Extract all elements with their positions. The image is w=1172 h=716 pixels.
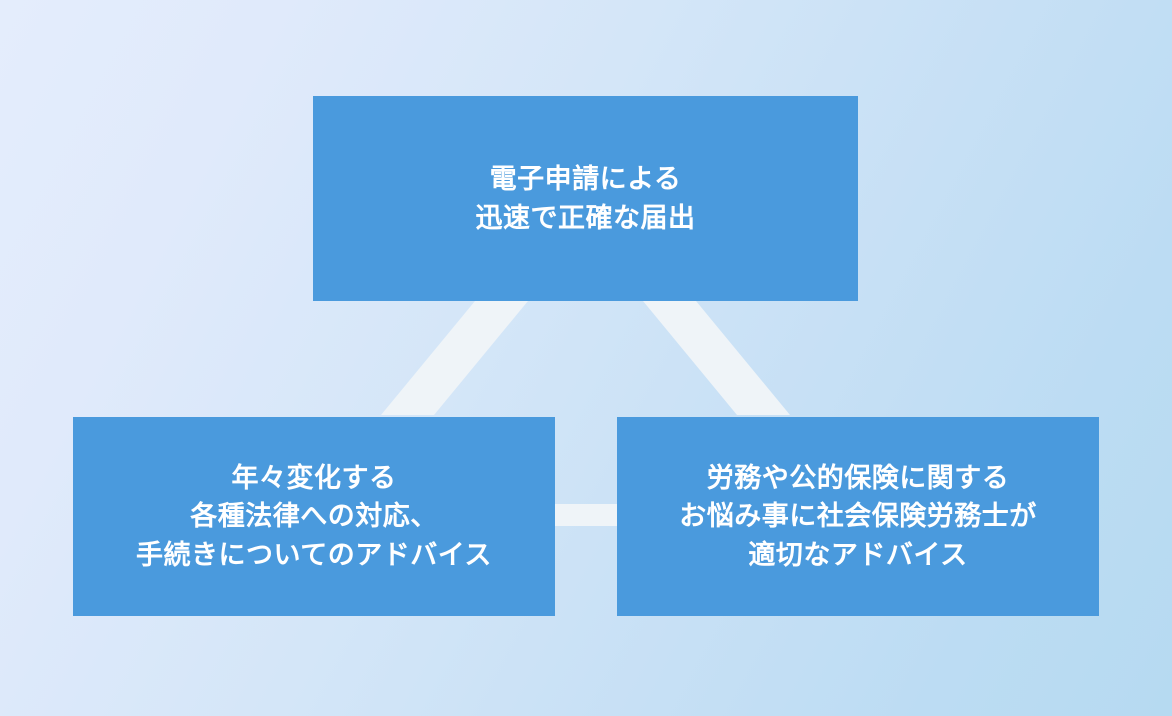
node-electronic-application-label: 電子申請による 迅速で正確な届出 [476,160,696,237]
node-labor-insurance-advice: 労務や公的保険に関する お悩み事に社会保険労務士が 適切なアドバイス [617,417,1099,616]
node-electronic-application: 電子申請による 迅速で正確な届出 [313,96,858,301]
node-labor-insurance-advice-label: 労務や公的保険に関する お悩み事に社会保険労務士が 適切なアドバイス [679,459,1037,574]
diagram-canvas: 電子申請による 迅速で正確な届出 年々変化する 各種法律への対応、 手続きについ… [0,0,1172,716]
connector-top-left [381,301,528,415]
connector-left-right [545,504,627,526]
node-legal-change-advice: 年々変化する 各種法律への対応、 手続きについてのアドバイス [73,417,555,616]
connector-top-right [643,301,790,415]
node-legal-change-advice-label: 年々変化する 各種法律への対応、 手続きについてのアドバイス [136,459,492,574]
